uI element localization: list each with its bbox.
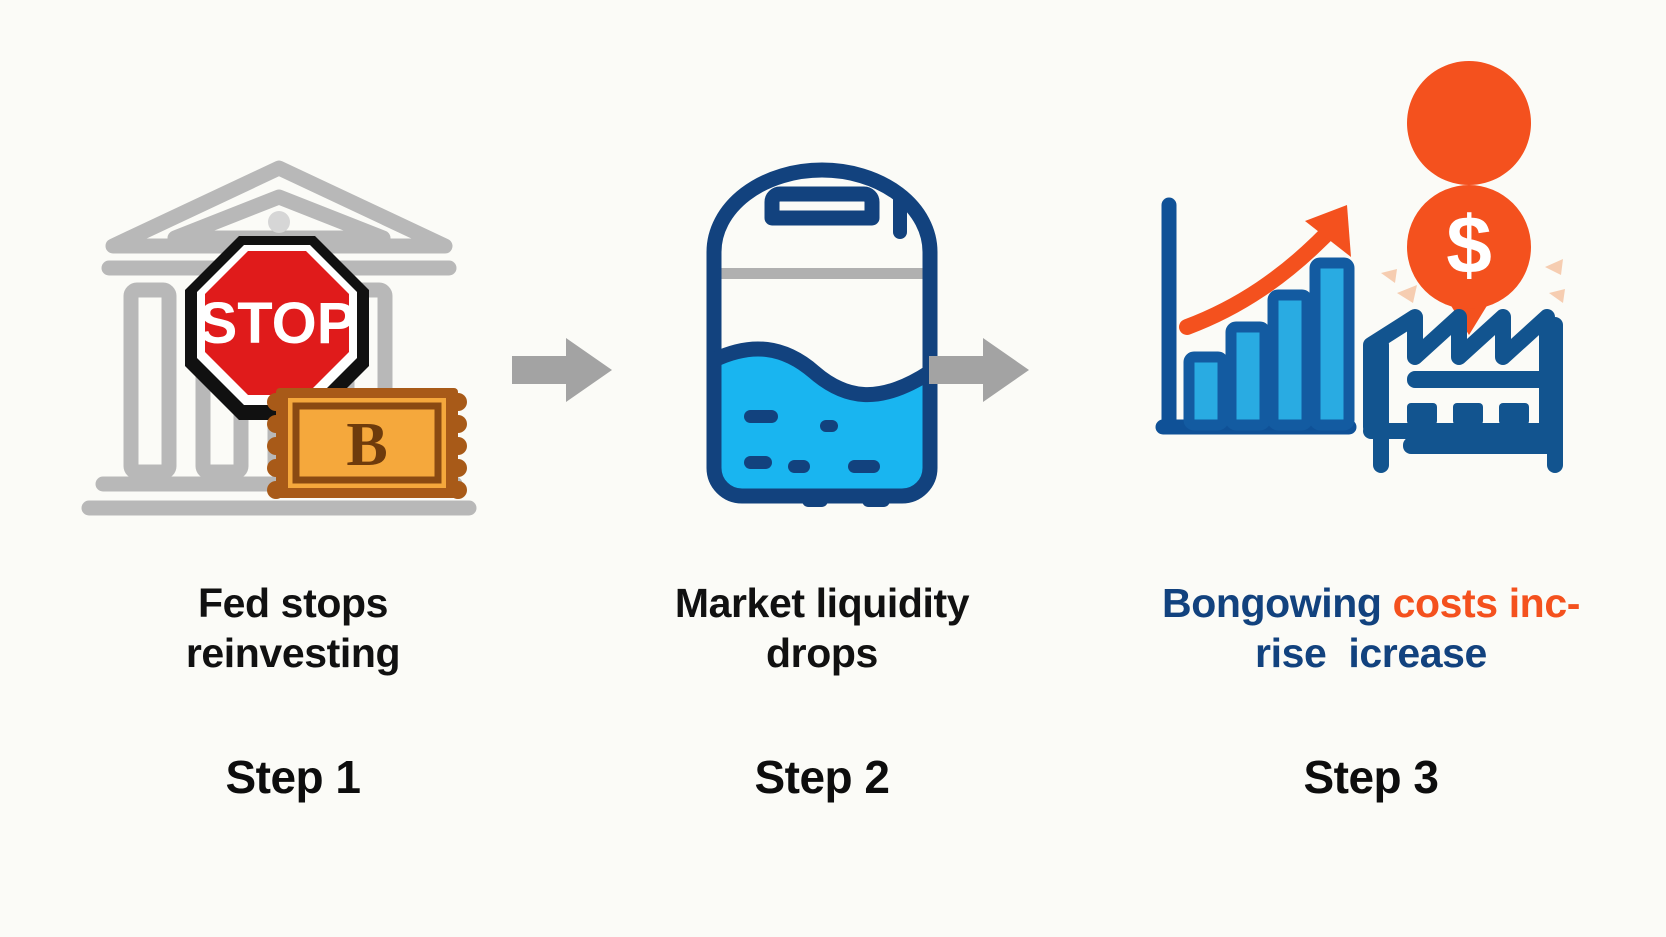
- steps-row: STOP: [0, 0, 1666, 937]
- step-3-column: $: [1136, 0, 1606, 804]
- connector-arrow-1: [508, 330, 618, 410]
- bank-pediment-dot: [268, 211, 290, 233]
- step-1-column: STOP: [78, 0, 508, 804]
- step-1-caption: Fed stops reinvesting: [186, 578, 400, 678]
- step-3-caption-line2: rise icrease: [1136, 628, 1606, 678]
- step-2-caption: Market liquidity drops: [675, 578, 969, 678]
- step-2-caption-line1: Market liquidity: [675, 578, 969, 628]
- bond-certificate-icon: B: [267, 388, 467, 499]
- bar-2: [1231, 327, 1265, 425]
- liquidity-tank-icon: [692, 160, 952, 520]
- step-3-word-borrowing: Bongowing: [1162, 580, 1382, 626]
- step-2-label: Step 2: [754, 750, 889, 804]
- step-3-word-rise: rise: [1255, 630, 1326, 676]
- step-1-caption-line1: Fed stops: [186, 578, 400, 628]
- step-3-word-costs: costs: [1393, 580, 1498, 626]
- step-2-caption-line2: drops: [675, 628, 969, 678]
- step-3-artwork: $: [1136, 140, 1606, 540]
- step-3-label: Step 3: [1303, 750, 1438, 804]
- step-1-caption-line2: reinvesting: [186, 628, 400, 678]
- bank-stop-bond-illustration: STOP: [83, 150, 503, 530]
- right-arrow-icon: [925, 330, 1035, 410]
- bar-3: [1273, 295, 1307, 425]
- costs-growth-illustration: $: [1151, 175, 1591, 505]
- right-arrow-icon: [508, 330, 618, 410]
- bar-4: [1315, 263, 1349, 425]
- step-3-word-icrease: icrease: [1348, 630, 1487, 676]
- dollar-symbol: $: [1446, 200, 1492, 291]
- connector-arrow-2: [925, 330, 1035, 410]
- step-1-artwork: STOP: [78, 140, 508, 540]
- bar-1: [1189, 357, 1223, 425]
- infographic-canvas: STOP: [0, 0, 1666, 937]
- step-1-label: Step 1: [225, 750, 360, 804]
- tank-handle: [772, 194, 872, 218]
- step-3-word-inc: inc-: [1509, 580, 1580, 626]
- stop-sign-label: STOP: [199, 291, 356, 356]
- bond-letter: B: [346, 411, 387, 479]
- step-3-caption: Bongowing costs inc- rise icrease: [1136, 578, 1606, 678]
- step-3-caption-line1: Bongowing costs inc-: [1136, 578, 1606, 628]
- fill-level-marker: [720, 268, 924, 279]
- dollar-pin-icon: $: [1407, 61, 1531, 335]
